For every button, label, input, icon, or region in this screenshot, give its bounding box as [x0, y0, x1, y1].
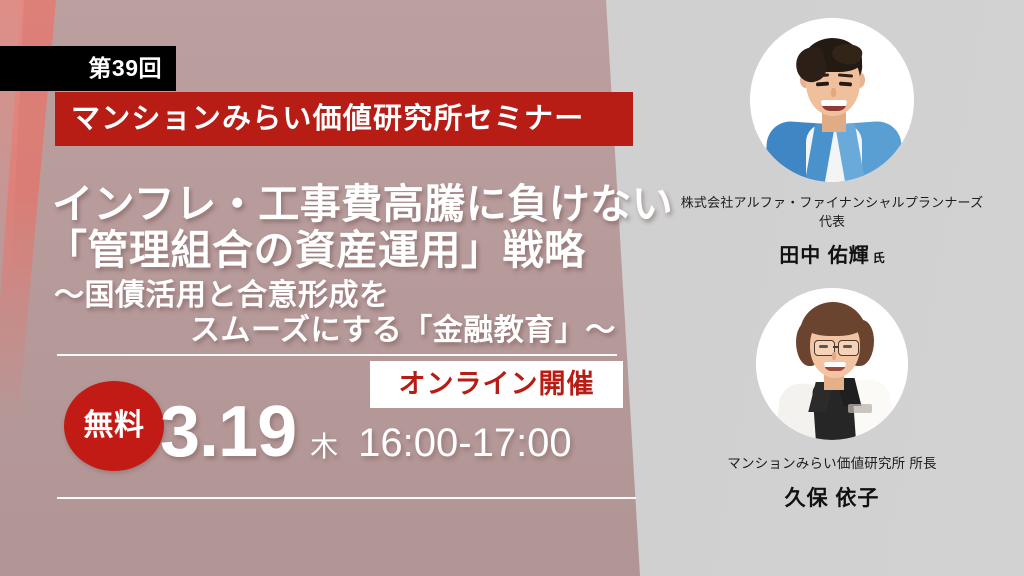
speaker-org: 株式会社アルファ・ファイナンシャルプランナーズ: [640, 194, 1024, 213]
event-datetime-row: 3.19 木 16:00-17:00: [160, 396, 572, 468]
series-title-bar: マンションみらい価値研究所セミナー: [55, 92, 633, 146]
online-event-label: オンライン開催: [399, 371, 595, 398]
hair-fringe: [804, 310, 864, 336]
teeth-shape: [824, 362, 846, 367]
headline-block: インフレ・工事費高騰に負けない 「管理組合の資産運用」戦略 〜国債活用と合意形成…: [40, 182, 640, 349]
jacket-logo-mark: [848, 404, 872, 413]
speaker-name-row: 田中 佑輝氏: [640, 239, 1024, 268]
series-title-label: マンションみらい価値研究所セミナー: [71, 105, 584, 134]
speaker-photo-female: [756, 288, 908, 440]
eye-right: [839, 82, 852, 87]
eyeglasses-bridge: [833, 346, 838, 348]
headline-line-4: スムーズにする「金融教育」〜: [40, 313, 640, 348]
divider-rule-bottom: [57, 497, 636, 499]
speaker-card-1: 株式会社アルファ・ファイナンシャルプランナーズ 代表 田中 佑輝氏: [640, 18, 1024, 268]
issue-number-badge: 第39回: [0, 46, 176, 91]
divider-rule-top: [57, 354, 617, 356]
speaker-role: 代表: [640, 213, 1024, 232]
free-admission-label: 無料: [84, 411, 145, 441]
headline-line-3: 〜国債活用と合意形成を: [40, 278, 640, 313]
smiling-mouth: [821, 100, 847, 111]
eyeglasses-lens-right: [838, 340, 859, 356]
speaker-name: 久保 依子: [785, 487, 880, 510]
headline-line-1: インフレ・工事費高騰に負けない: [40, 182, 640, 228]
nose-shape: [832, 352, 836, 360]
speaker-name-suffix: 氏: [873, 251, 885, 265]
speaker-name: 田中 佑輝: [779, 245, 870, 267]
event-date: 3.19: [160, 396, 296, 468]
nose-shape: [831, 88, 836, 97]
speaker-name-row: 久保 依子: [640, 482, 1024, 512]
event-time-range: 16:00-17:00: [358, 423, 572, 463]
headline-line-2: 「管理組合の資産運用」戦略: [40, 228, 640, 274]
speaker-card-2: マンションみらい価値研究所 所長 久保 依子: [640, 288, 1024, 512]
event-day-of-week: 木: [310, 433, 338, 461]
free-admission-badge: 無料: [64, 381, 164, 471]
teeth-shape: [821, 100, 847, 106]
smiling-mouth: [824, 362, 846, 371]
speaker-org: マンションみらい価値研究所 所長: [640, 454, 1024, 474]
issue-number-label: 第39回: [88, 57, 162, 80]
speaker-photo-male: [750, 18, 914, 182]
seminar-poster: 第39回 マンションみらい価値研究所セミナー インフレ・工事費高騰に負けない 「…: [0, 0, 1024, 576]
